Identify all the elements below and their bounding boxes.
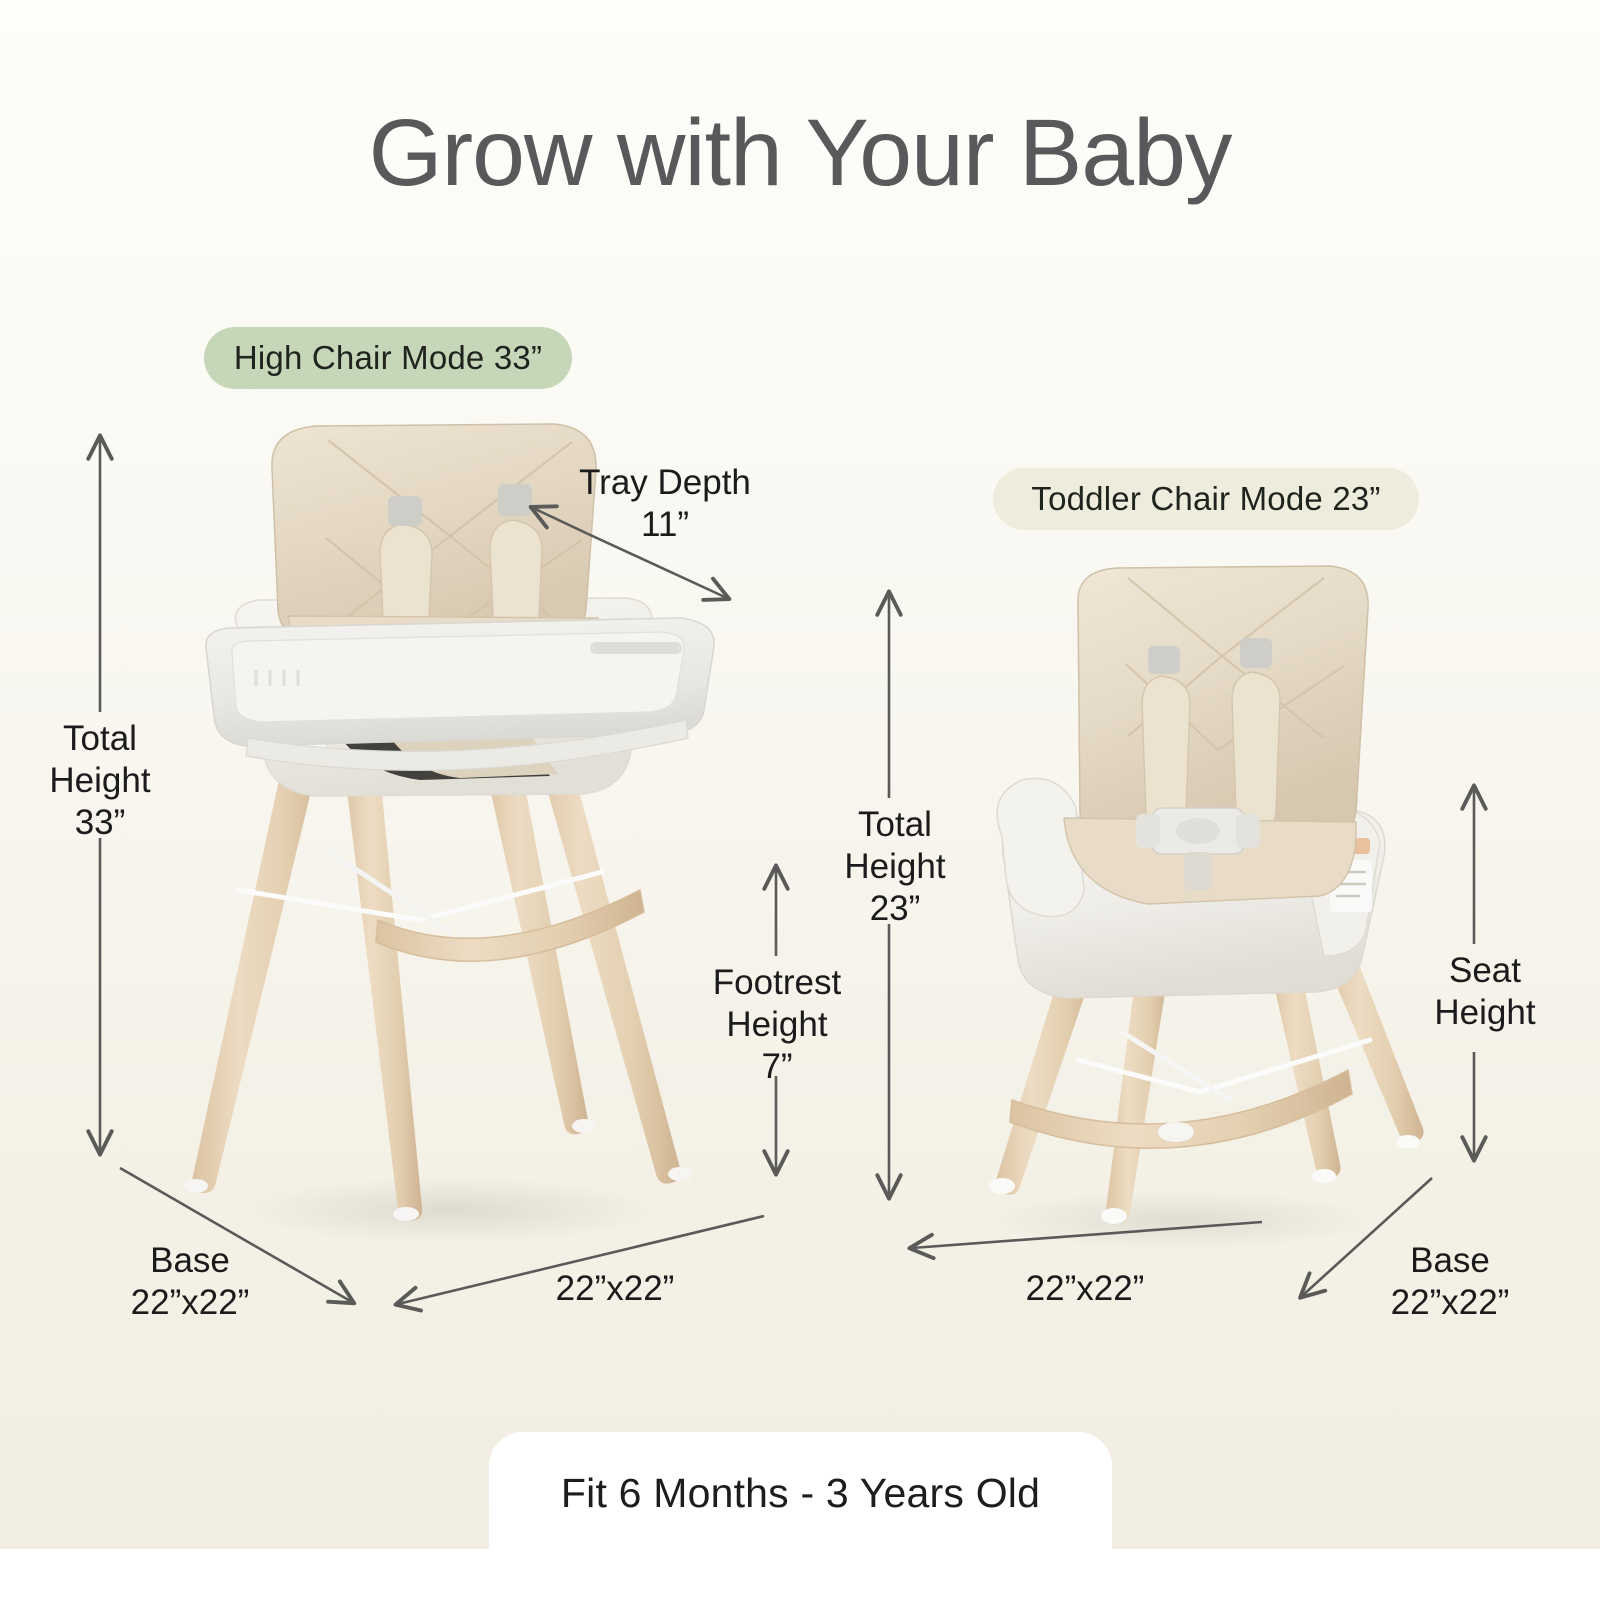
label-line: Height — [1390, 992, 1580, 1034]
label-toddler-total-height: Total Height 23” — [800, 804, 990, 930]
label-value: 22”x22” — [1330, 1282, 1570, 1324]
label-value: 22”x22” — [70, 1282, 310, 1324]
label-line: Footrest — [672, 962, 882, 1004]
infographic-canvas: Grow with Your Baby — [0, 0, 1600, 1600]
label-line: Seat — [1390, 950, 1580, 992]
label-line: Total — [800, 804, 990, 846]
label-value: 22”x22” — [970, 1268, 1200, 1310]
label-value: 33” — [10, 802, 190, 844]
label-footrest-height: Footrest Height 7” — [672, 962, 882, 1088]
label-line: Height — [800, 846, 990, 888]
label-high-chair-base-left: Base 22”x22” — [70, 1240, 310, 1324]
label-line: Height — [672, 1004, 882, 1046]
label-line: Height — [10, 760, 190, 802]
label-line: Total — [10, 718, 190, 760]
dimension-arrows — [0, 0, 1600, 1600]
age-range-card: Fit 6 Months - 3 Years Old — [489, 1432, 1112, 1600]
label-high-chair-base-bottom: 22”x22” — [500, 1268, 730, 1310]
label-toddler-base-bottom: 22”x22” — [970, 1268, 1200, 1310]
label-line: Tray Depth — [540, 462, 790, 504]
label-seat-height: Seat Height — [1390, 950, 1580, 1034]
label-high-chair-total-height: Total Height 33” — [10, 718, 190, 844]
label-value: 23” — [800, 888, 990, 930]
label-line: Base — [1330, 1240, 1570, 1282]
label-line: Base — [70, 1240, 310, 1282]
label-value: 22”x22” — [500, 1268, 730, 1310]
label-value: 7” — [672, 1046, 882, 1088]
label-tray-depth: Tray Depth 11” — [540, 462, 790, 546]
label-toddler-base-right: Base 22”x22” — [1330, 1240, 1570, 1324]
age-range-text: Fit 6 Months - 3 Years Old — [561, 1470, 1040, 1517]
label-value: 11” — [540, 504, 790, 546]
